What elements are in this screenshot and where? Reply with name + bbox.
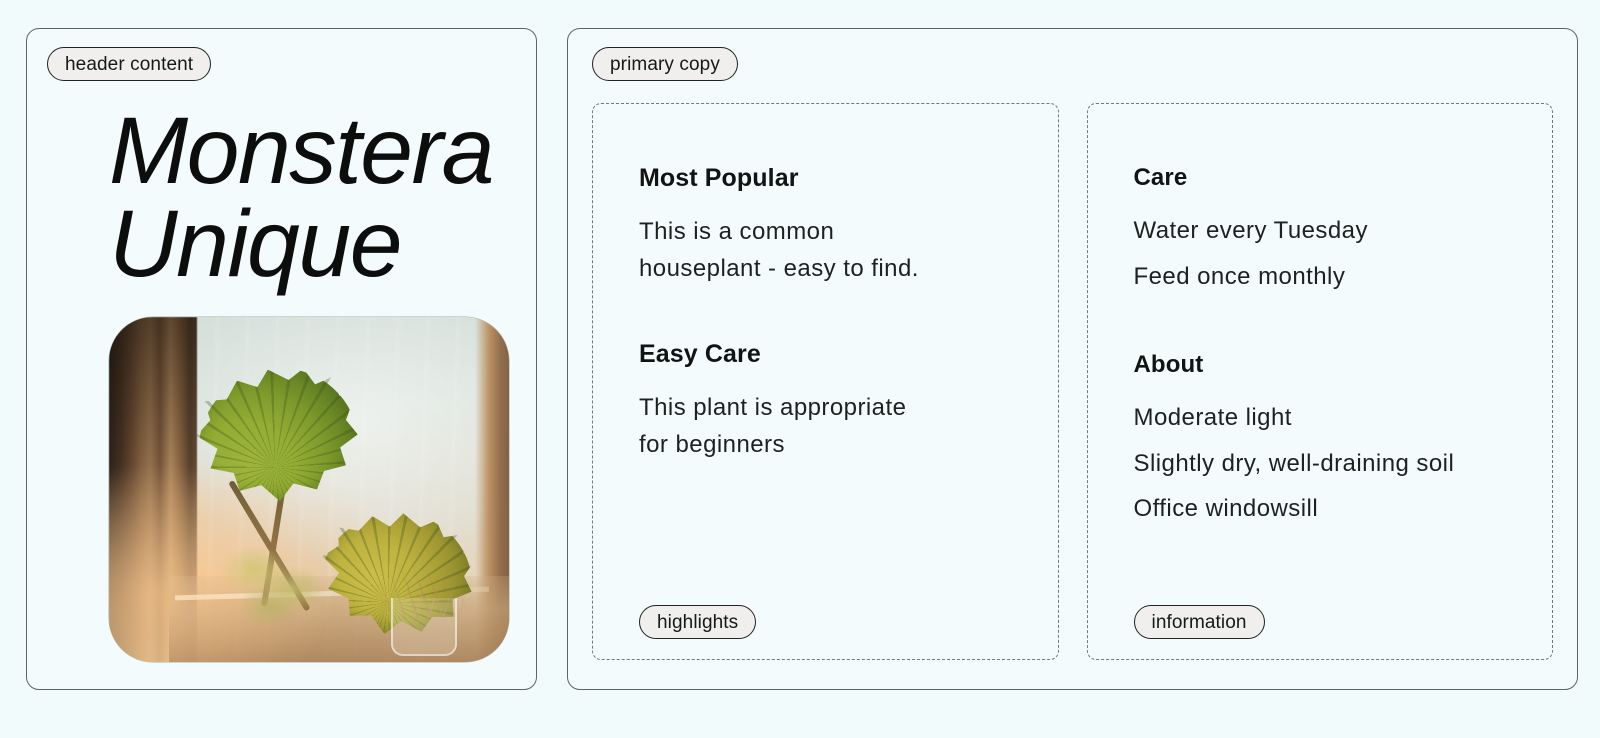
section-easy-care: Easy Care This plant is appropriate for … bbox=[639, 340, 1012, 464]
section-title: About bbox=[1134, 351, 1507, 379]
primary-copy-badge: primary copy bbox=[592, 47, 738, 81]
information-badge: information bbox=[1134, 605, 1265, 639]
section-line: This plant is appropriate bbox=[639, 389, 1012, 426]
section-line: for beginners bbox=[639, 426, 1012, 463]
header-content-badge: header content bbox=[47, 47, 211, 81]
section-line: Office windowsill bbox=[1134, 486, 1507, 532]
section-title: Easy Care bbox=[639, 340, 1012, 369]
section-about: About Moderate light Slightly dry, well-… bbox=[1134, 351, 1507, 532]
highlights-card: Most Popular This is a common houseplant… bbox=[592, 103, 1059, 660]
section-line: houseplant - easy to find. bbox=[639, 250, 1012, 287]
header-panel: header content Monstera Unique bbox=[26, 28, 537, 690]
section-care: Care Water every Tuesday Feed once month… bbox=[1134, 164, 1507, 299]
plant-photo bbox=[109, 317, 509, 662]
primary-copy-panel: primary copy Most Popular This is a comm… bbox=[567, 28, 1578, 690]
section-most-popular: Most Popular This is a common houseplant… bbox=[639, 164, 1012, 288]
section-line: Moderate light bbox=[1134, 395, 1507, 441]
section-line: Water every Tuesday bbox=[1134, 208, 1507, 254]
section-line: Slightly dry, well-draining soil bbox=[1134, 441, 1507, 487]
section-line: Feed once monthly bbox=[1134, 254, 1507, 300]
page-title: Monstera Unique bbox=[109, 105, 516, 291]
page-root: header content Monstera Unique prim bbox=[0, 0, 1600, 738]
cards-container: Most Popular This is a common houseplant… bbox=[592, 103, 1553, 660]
lower-foliage bbox=[221, 530, 341, 626]
information-card-footer: information bbox=[1134, 605, 1507, 659]
section-title: Most Popular bbox=[639, 164, 1012, 193]
highlights-badge: highlights bbox=[639, 605, 756, 639]
information-card: Care Water every Tuesday Feed once month… bbox=[1087, 103, 1554, 660]
glass-vase bbox=[391, 598, 457, 656]
section-line: This is a common bbox=[639, 213, 1012, 250]
highlights-card-footer: highlights bbox=[639, 605, 1012, 659]
section-title: Care bbox=[1134, 164, 1507, 192]
